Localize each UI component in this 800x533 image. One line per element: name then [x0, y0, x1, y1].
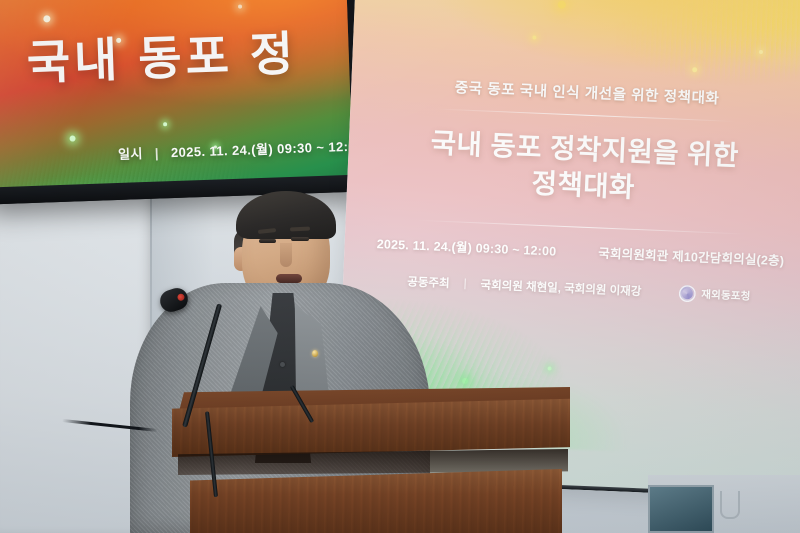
taegeuk-icon — [679, 284, 697, 302]
monitor-wave-lines — [0, 78, 353, 188]
projection-agency-logo: 재외동포청 — [679, 284, 751, 304]
equipment-panel — [648, 485, 714, 533]
wall-panel-left — [0, 190, 150, 533]
background-equipment — [648, 475, 800, 533]
monitor-separator: | — [155, 146, 160, 161]
projection-venue: 국회의원회관 제10간담회의실(2층) — [598, 242, 785, 269]
projection-host-separator: | — [463, 278, 466, 290]
left-display-screen: 국내 동포 정 일시 | 2025. 11. 24.(월) 09:30 ~ 12… — [0, 0, 353, 188]
projection-divider-top — [436, 108, 736, 122]
speaker-eye-right — [291, 237, 309, 241]
projection-agency-name: 재외동포청 — [701, 286, 751, 303]
speaker-hair — [236, 191, 336, 239]
speaker-nose — [280, 243, 292, 267]
speaker-mouth — [276, 274, 302, 283]
equipment-handle — [720, 491, 740, 519]
shirt-button — [280, 362, 285, 367]
monitor-title-text: 국내 동포 정 — [26, 28, 345, 86]
photo-canvas: 국내 동포 정 일시 | 2025. 11. 24.(월) 09:30 ~ 12… — [0, 0, 800, 533]
speaker-eye-left — [259, 239, 276, 243]
lapel-pin — [312, 350, 318, 357]
podium-wood-grain — [190, 469, 562, 533]
monitor-date-label: 일시 — [118, 146, 143, 162]
projection-kicker: 중국 동포 국내 인식 개선을 위한 정책대화 — [351, 72, 800, 113]
podium-base — [190, 469, 562, 533]
projection-divider-bottom — [417, 219, 747, 234]
